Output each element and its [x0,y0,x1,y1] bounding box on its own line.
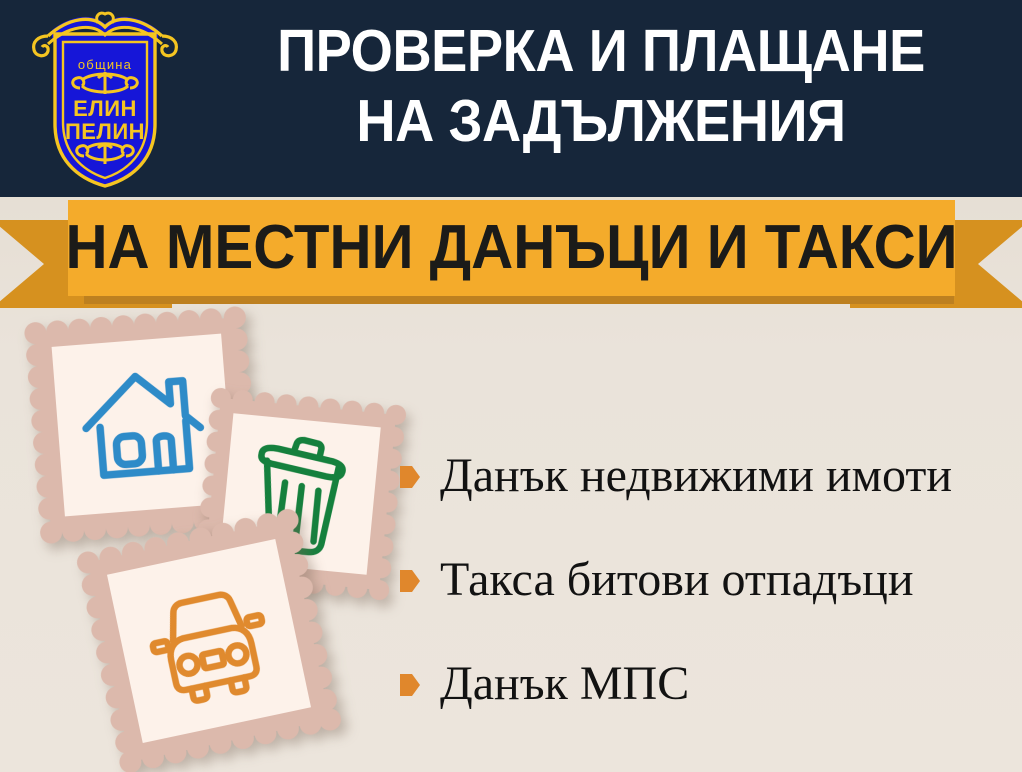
list-item-label: Данък недвижими имоти [440,450,952,502]
svg-text:ЕЛИН: ЕЛИН [73,96,137,121]
list-item[interactable]: Такса битови отпадъци [400,528,1010,632]
ribbon-banner: НА МЕСТНИ ДАНЪЦИ И ТАКСИ [0,196,1022,311]
orange-arrow-bullet-icon [400,568,420,594]
stamp-vehicle [75,507,343,772]
list-item[interactable]: Данък недвижими имоти [400,424,1010,528]
poster-canvas: ПРОВЕРКА И ПЛАЩАНЕ НА ЗАДЪЛЖЕНИЯ община [0,0,1022,772]
ribbon-label: НА МЕСТНИ ДАНЪЦИ И ТАКСИ [65,217,957,279]
orange-arrow-bullet-icon [400,672,420,698]
ribbon-main-block: НА МЕСТНИ ДАНЪЦИ И ТАКСИ [68,200,955,296]
list-item[interactable]: Данък МПС [400,632,1010,736]
page-title-line-1: ПРОВЕРКА И ПЛАЩАНЕ [219,16,983,86]
svg-text:ПЕЛИН: ПЕЛИН [65,119,145,144]
svg-text:община: община [78,57,132,72]
page-title-line-2: НА ЗАДЪЛЖЕНИЯ [219,86,983,156]
coat-of-arms-shield-icon: община ЕЛИН ПЕЛИН [22,6,188,196]
list-item-label: Данък МПС [440,658,689,710]
orange-arrow-bullet-icon [400,464,420,490]
list-item-label: Такса битови отпадъци [440,554,914,606]
tax-service-list: Данък недвижими имоти Такса битови отпад… [400,424,1010,736]
page-title: ПРОВЕРКА И ПЛАЩАНЕ НА ЗАДЪЛЖЕНИЯ [219,16,983,156]
